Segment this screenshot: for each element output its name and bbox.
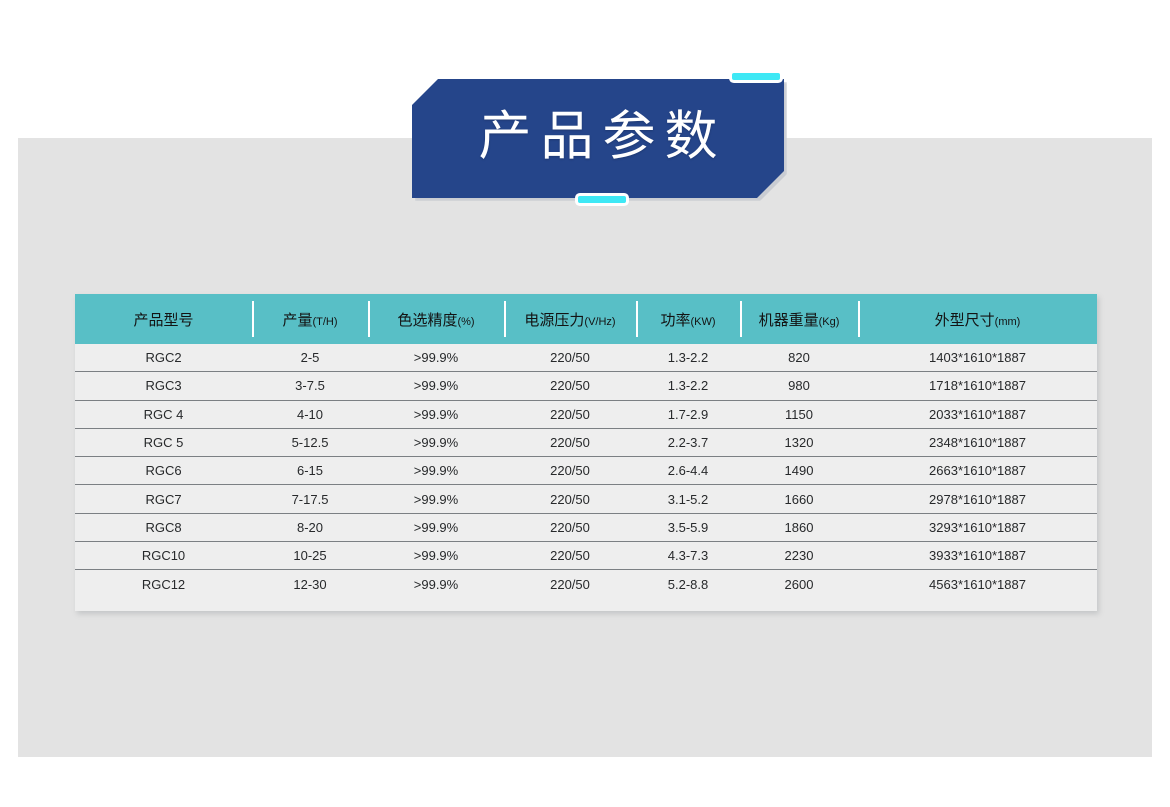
header-unit: (%) <box>457 316 474 328</box>
table-row: RGC33-7.5>99.9%220/501.3-2.29801718*1610… <box>75 372 1097 400</box>
header-label: 色选精度 <box>397 312 457 329</box>
table-cell: 2.6-4.4 <box>636 457 740 485</box>
spec-table: 产品型号 产量(T/H) 色选精度(%) 电源压力(V/Hz) 功率(KW) 机… <box>75 294 1097 598</box>
table-cell: 220/50 <box>504 344 636 372</box>
spec-table-header: 产品型号 产量(T/H) 色选精度(%) 电源压力(V/Hz) 功率(KW) 机… <box>75 294 1097 344</box>
column-header-power: 功率(KW) <box>636 294 740 344</box>
header-unit: (mm) <box>995 316 1021 328</box>
table-cell: 3.5-5.9 <box>636 513 740 541</box>
table-cell: 1.3-2.2 <box>636 372 740 400</box>
table-cell: 1403*1610*1887 <box>858 344 1097 372</box>
table-cell: RGC10 <box>75 542 252 570</box>
table-cell: >99.9% <box>368 344 504 372</box>
table-cell: 220/50 <box>504 542 636 570</box>
header-label: 电源压力 <box>524 312 584 329</box>
table-cell: >99.9% <box>368 570 504 598</box>
table-row: RGC1212-30>99.9%220/505.2-8.826004563*16… <box>75 570 1097 598</box>
table-cell: 2230 <box>740 542 858 570</box>
table-cell: 1.3-2.2 <box>636 344 740 372</box>
table-row: RGC22-5>99.9%220/501.3-2.28201403*1610*1… <box>75 344 1097 372</box>
table-row: RGC 44-10>99.9%220/501.7-2.911502033*161… <box>75 400 1097 428</box>
table-cell: 220/50 <box>504 372 636 400</box>
header-unit: (Kg) <box>819 316 840 328</box>
table-cell: RGC7 <box>75 485 252 513</box>
table-cell: 12-30 <box>252 570 368 598</box>
column-header-voltage: 电源压力(V/Hz) <box>504 294 636 344</box>
table-cell: RGC2 <box>75 344 252 372</box>
table-cell: 1490 <box>740 457 858 485</box>
column-header-capacity: 产量(T/H) <box>252 294 368 344</box>
table-cell: 1860 <box>740 513 858 541</box>
table-cell: 2033*1610*1887 <box>858 400 1097 428</box>
table-cell: >99.9% <box>368 428 504 456</box>
header-unit: (V/Hz) <box>584 316 615 328</box>
table-cell: 2663*1610*1887 <box>858 457 1097 485</box>
table-row: RGC66-15>99.9%220/502.6-4.414902663*1610… <box>75 457 1097 485</box>
table-cell: >99.9% <box>368 372 504 400</box>
header-label: 功率 <box>660 312 690 329</box>
table-cell: RGC 4 <box>75 400 252 428</box>
table-cell: 1718*1610*1887 <box>858 372 1097 400</box>
title-banner: 产品参数 <box>412 79 784 198</box>
table-cell: RGC6 <box>75 457 252 485</box>
table-cell: 5-12.5 <box>252 428 368 456</box>
table-cell: >99.9% <box>368 542 504 570</box>
table-cell: 220/50 <box>504 570 636 598</box>
table-cell: 4563*1610*1887 <box>858 570 1097 598</box>
table-cell: 1320 <box>740 428 858 456</box>
column-header-model: 产品型号 <box>75 294 252 344</box>
table-cell: 3-7.5 <box>252 372 368 400</box>
table-cell: 10-25 <box>252 542 368 570</box>
table-cell: 6-15 <box>252 457 368 485</box>
table-cell: 2-5 <box>252 344 368 372</box>
accent-bar-top-icon <box>732 73 780 80</box>
spec-table-body: RGC22-5>99.9%220/501.3-2.28201403*1610*1… <box>75 344 1097 598</box>
table-cell: 220/50 <box>504 513 636 541</box>
column-header-accuracy: 色选精度(%) <box>368 294 504 344</box>
table-cell: 2600 <box>740 570 858 598</box>
table-cell: 220/50 <box>504 485 636 513</box>
header-label: 外型尺寸 <box>935 312 995 329</box>
table-cell: 3933*1610*1887 <box>858 542 1097 570</box>
table-cell: >99.9% <box>368 485 504 513</box>
table-cell: 1150 <box>740 400 858 428</box>
banner-panel: 产品参数 <box>412 79 784 198</box>
table-cell: 820 <box>740 344 858 372</box>
table-cell: >99.9% <box>368 400 504 428</box>
accent-bar-bottom-icon <box>578 196 626 203</box>
table-cell: 8-20 <box>252 513 368 541</box>
table-row: RGC77-17.5>99.9%220/503.1-5.216602978*16… <box>75 485 1097 513</box>
table-cell: 7-17.5 <box>252 485 368 513</box>
table-cell: 220/50 <box>504 457 636 485</box>
page-title: 产品参数 <box>470 110 727 167</box>
table-footer-strip <box>75 598 1097 611</box>
table-cell: 5.2-8.8 <box>636 570 740 598</box>
table-row: RGC88-20>99.9%220/503.5-5.918603293*1610… <box>75 513 1097 541</box>
table-cell: RGC3 <box>75 372 252 400</box>
table-cell: RGC 5 <box>75 428 252 456</box>
header-row: 产品型号 产量(T/H) 色选精度(%) 电源压力(V/Hz) 功率(KW) 机… <box>75 294 1097 344</box>
table-row: RGC1010-25>99.9%220/504.3-7.322303933*16… <box>75 542 1097 570</box>
table-cell: 1.7-2.9 <box>636 400 740 428</box>
table-cell: 2348*1610*1887 <box>858 428 1097 456</box>
table-cell: 3.1-5.2 <box>636 485 740 513</box>
spec-table-card: 产品型号 产量(T/H) 色选精度(%) 电源压力(V/Hz) 功率(KW) 机… <box>75 294 1097 611</box>
table-cell: 220/50 <box>504 400 636 428</box>
table-cell: 2978*1610*1887 <box>858 485 1097 513</box>
table-cell: 4-10 <box>252 400 368 428</box>
header-label: 产量 <box>282 312 312 329</box>
header-unit: (KW) <box>690 316 715 328</box>
column-header-weight: 机器重量(Kg) <box>740 294 858 344</box>
table-cell: RGC8 <box>75 513 252 541</box>
table-cell: >99.9% <box>368 457 504 485</box>
table-cell: >99.9% <box>368 513 504 541</box>
table-cell: RGC12 <box>75 570 252 598</box>
header-label: 产品型号 <box>133 312 193 329</box>
table-cell: 4.3-7.3 <box>636 542 740 570</box>
table-cell: 1660 <box>740 485 858 513</box>
table-cell: 980 <box>740 372 858 400</box>
table-cell: 2.2-3.7 <box>636 428 740 456</box>
table-cell: 220/50 <box>504 428 636 456</box>
table-cell: 3293*1610*1887 <box>858 513 1097 541</box>
table-row: RGC 55-12.5>99.9%220/502.2-3.713202348*1… <box>75 428 1097 456</box>
header-label: 机器重量 <box>759 312 819 329</box>
column-header-dimensions: 外型尺寸(mm) <box>858 294 1097 344</box>
header-unit: (T/H) <box>312 316 337 328</box>
